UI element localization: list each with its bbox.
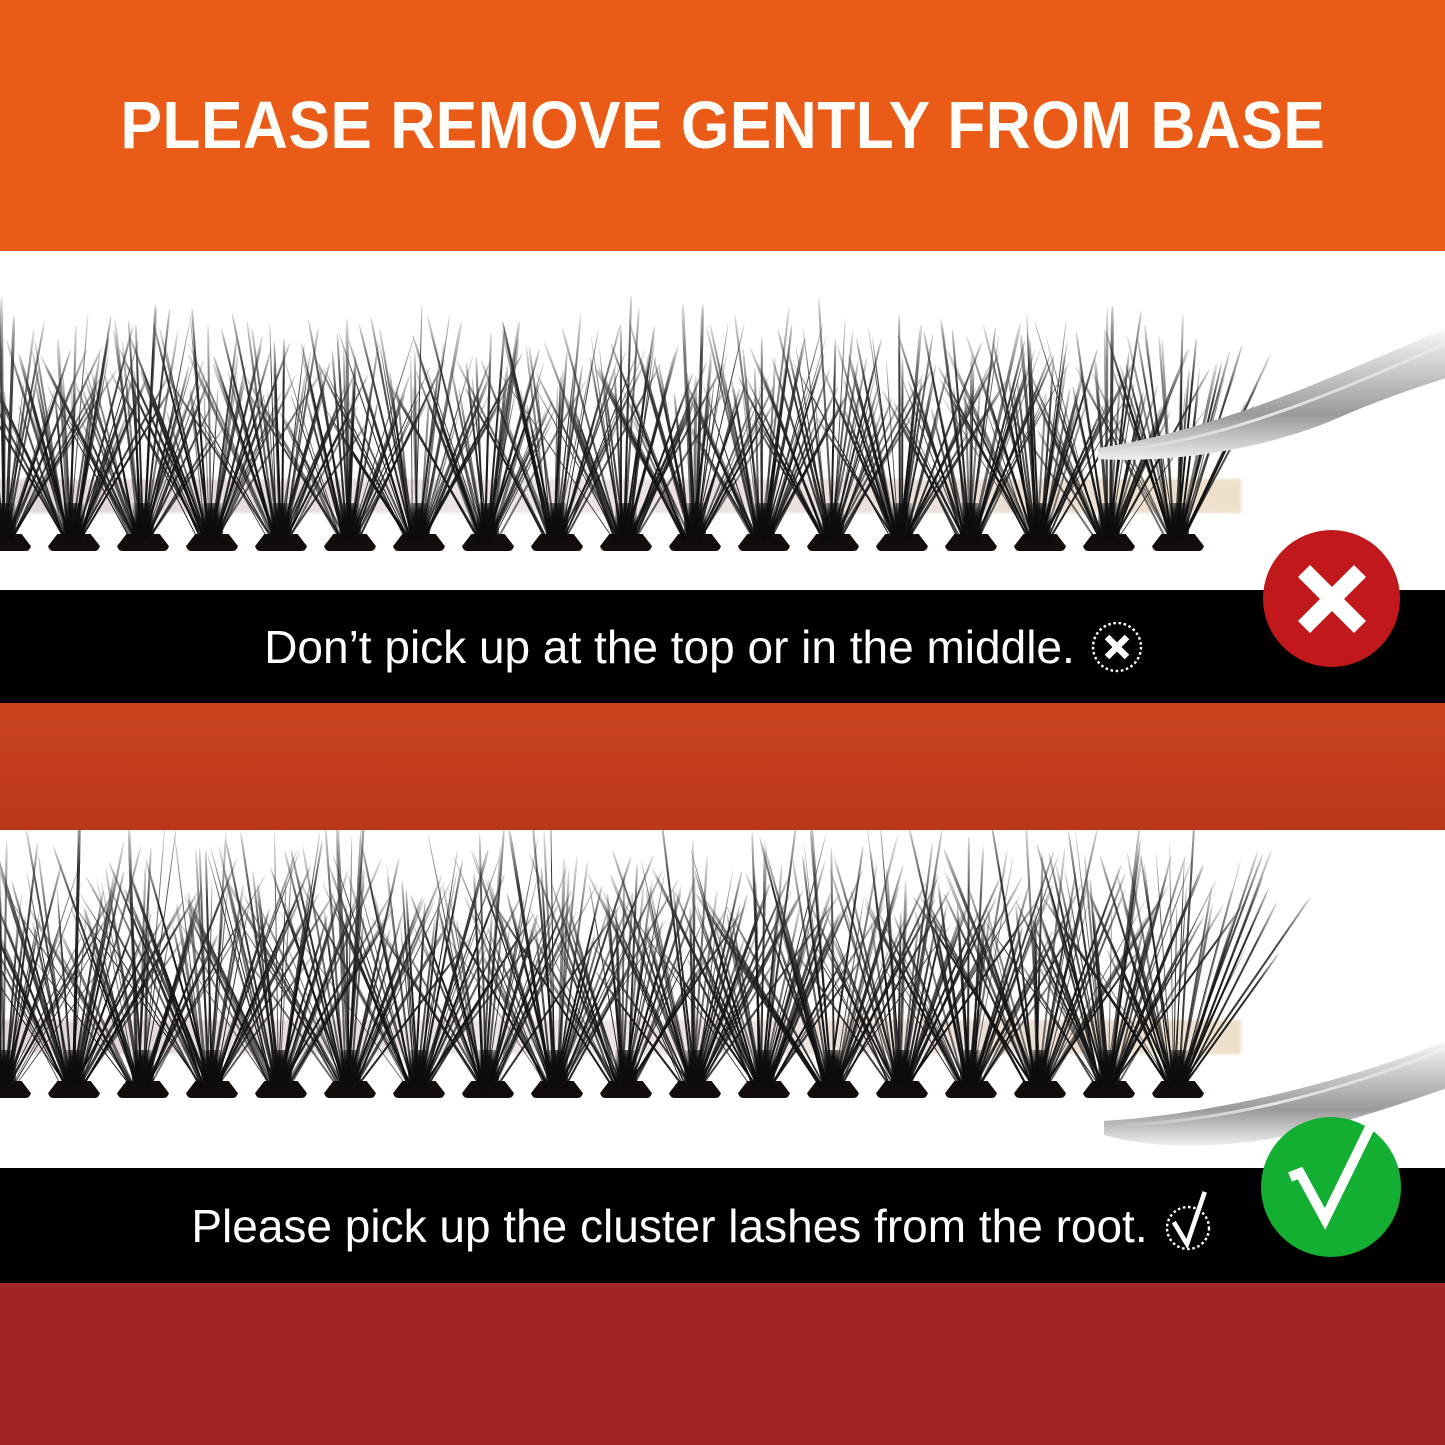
- page-title: PLEASE REMOVE GENTLY FROM BASE: [120, 92, 1325, 159]
- x-mark-icon: [1263, 530, 1400, 667]
- header-banner: PLEASE REMOVE GENTLY FROM BASE: [0, 0, 1445, 251]
- divider-band-middle: [0, 703, 1445, 830]
- lash-strip-bottom: [0, 830, 1271, 1168]
- lash-cluster: [382, 830, 456, 1098]
- lash-cluster: [382, 251, 456, 551]
- caption-text-correct: Please pick up the cluster lashes from t…: [191, 1203, 1147, 1249]
- caption-text-incorrect: Don’t pick up at the top or in the middl…: [264, 624, 1075, 670]
- lash-strip-top: [0, 251, 1271, 590]
- instruction-card: PLEASE REMOVE GENTLY FROM BASE Don’t pic…: [0, 0, 1445, 1445]
- divider-band-footer: [0, 1283, 1445, 1445]
- lash-cluster: [865, 251, 939, 551]
- caption-band-correct: Please pick up the cluster lashes from t…: [0, 1168, 1445, 1283]
- lash-cluster: [727, 251, 801, 551]
- photo-correct: [0, 830, 1445, 1168]
- lash-fiber: [1182, 383, 1259, 540]
- check-mark-icon: [1261, 1117, 1401, 1257]
- lash-fiber: [1181, 897, 1311, 1084]
- lash-cluster: [1141, 830, 1215, 1098]
- lash-cluster: [0, 251, 42, 551]
- lash-cluster: [934, 830, 1008, 1098]
- lash-cluster: [1141, 251, 1215, 551]
- caption-band-incorrect: Don’t pick up at the top or in the middl…: [0, 590, 1445, 703]
- circled-x-icon: [1089, 619, 1145, 675]
- lash-cluster: [313, 251, 387, 551]
- circled-check-icon: [1162, 1198, 1218, 1254]
- lash-cluster: [451, 251, 525, 551]
- photo-incorrect: [0, 251, 1445, 590]
